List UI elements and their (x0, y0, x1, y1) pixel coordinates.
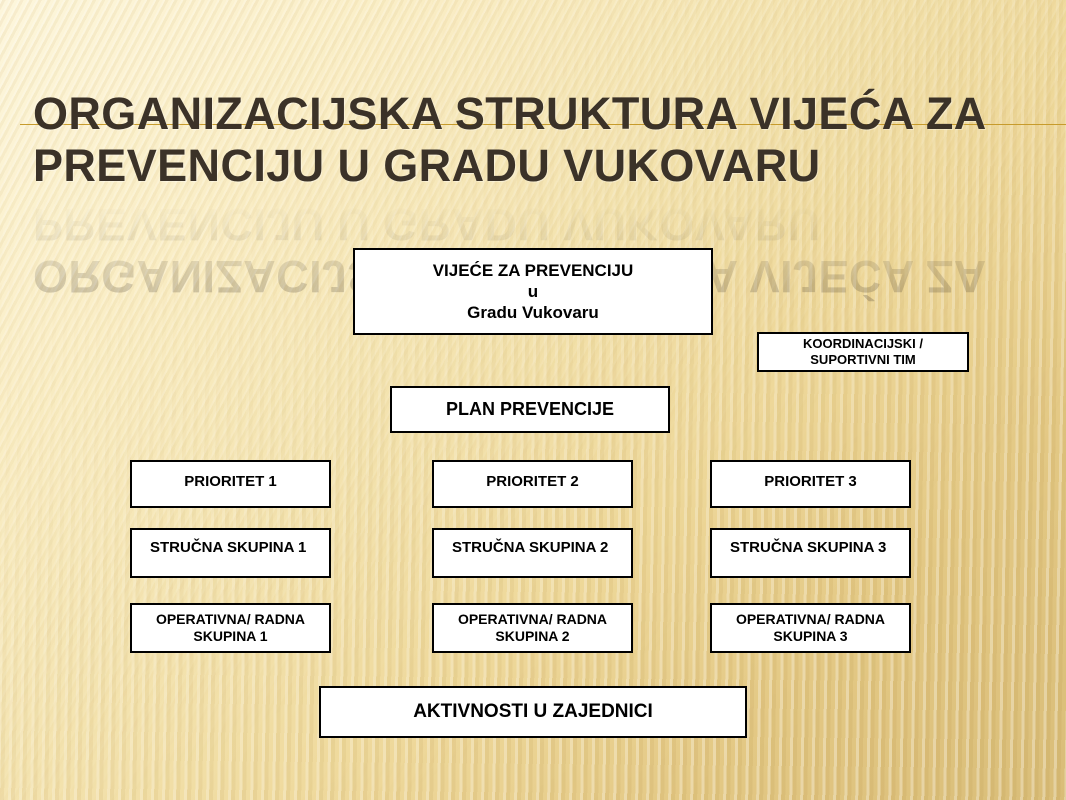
node-operative-group-3[interactable]: OPERATIVNA/ RADNA SKUPINA 3 (710, 603, 911, 653)
node-expert-group-3[interactable]: STRUČNA SKUPINA 3 (710, 528, 911, 578)
node-priority-2[interactable]: PRIORITET 2 (432, 460, 633, 508)
node-community-activities-label: AKTIVNOSTI U ZAJEDNICI (413, 700, 653, 724)
node-operative-group-1-label: OPERATIVNA/ RADNA SKUPINA 1 (156, 611, 305, 646)
node-priority-3[interactable]: PRIORITET 3 (710, 460, 911, 508)
node-operative-group-2-label: OPERATIVNA/ RADNA SKUPINA 2 (458, 611, 607, 646)
node-operative-group-3-label: OPERATIVNA/ RADNA SKUPINA 3 (736, 611, 885, 646)
node-council[interactable]: VIJEĆE ZA PREVENCIJU u Gradu Vukovaru (353, 248, 713, 335)
node-priority-1-label: PRIORITET 1 (184, 473, 277, 492)
node-community-activities[interactable]: AKTIVNOSTI U ZAJEDNICI (319, 686, 747, 738)
node-priority-2-label: PRIORITET 2 (486, 473, 579, 492)
node-expert-group-1[interactable]: STRUČNA SKUPINA 1 (130, 528, 331, 578)
node-council-label: VIJEĆE ZA PREVENCIJU u Gradu Vukovaru (433, 260, 634, 324)
node-prevention-plan-label: PLAN PREVENCIJE (446, 398, 614, 421)
node-priority-1[interactable]: PRIORITET 1 (130, 460, 331, 508)
node-operative-group-1[interactable]: OPERATIVNA/ RADNA SKUPINA 1 (130, 603, 331, 653)
node-expert-group-2[interactable]: STRUČNA SKUPINA 2 (432, 528, 633, 578)
node-prevention-plan[interactable]: PLAN PREVENCIJE (390, 386, 670, 433)
node-expert-group-2-label: STRUČNA SKUPINA 2 (452, 539, 608, 558)
node-coordination-team[interactable]: KOORDINACIJSKI / SUPORTIVNI TIM (757, 332, 969, 372)
node-priority-3-label: PRIORITET 3 (764, 473, 857, 492)
node-operative-group-2[interactable]: OPERATIVNA/ RADNA SKUPINA 2 (432, 603, 633, 653)
node-expert-group-3-label: STRUČNA SKUPINA 3 (730, 539, 886, 558)
node-expert-group-1-label: STRUČNA SKUPINA 1 (150, 539, 306, 558)
page-title: ORGANIZACIJSKA STRUKTURA VIJEĆA ZA PREVE… (33, 88, 1033, 192)
slide-title-block: ORGANIZACIJSKA STRUKTURA VIJEĆA ZA PREVE… (33, 88, 1033, 192)
node-coordination-team-label: KOORDINACIJSKI / SUPORTIVNI TIM (803, 336, 923, 369)
presentation-slide: ORGANIZACIJSKA STRUKTURA VIJEĆA ZA PREVE… (0, 0, 1066, 800)
